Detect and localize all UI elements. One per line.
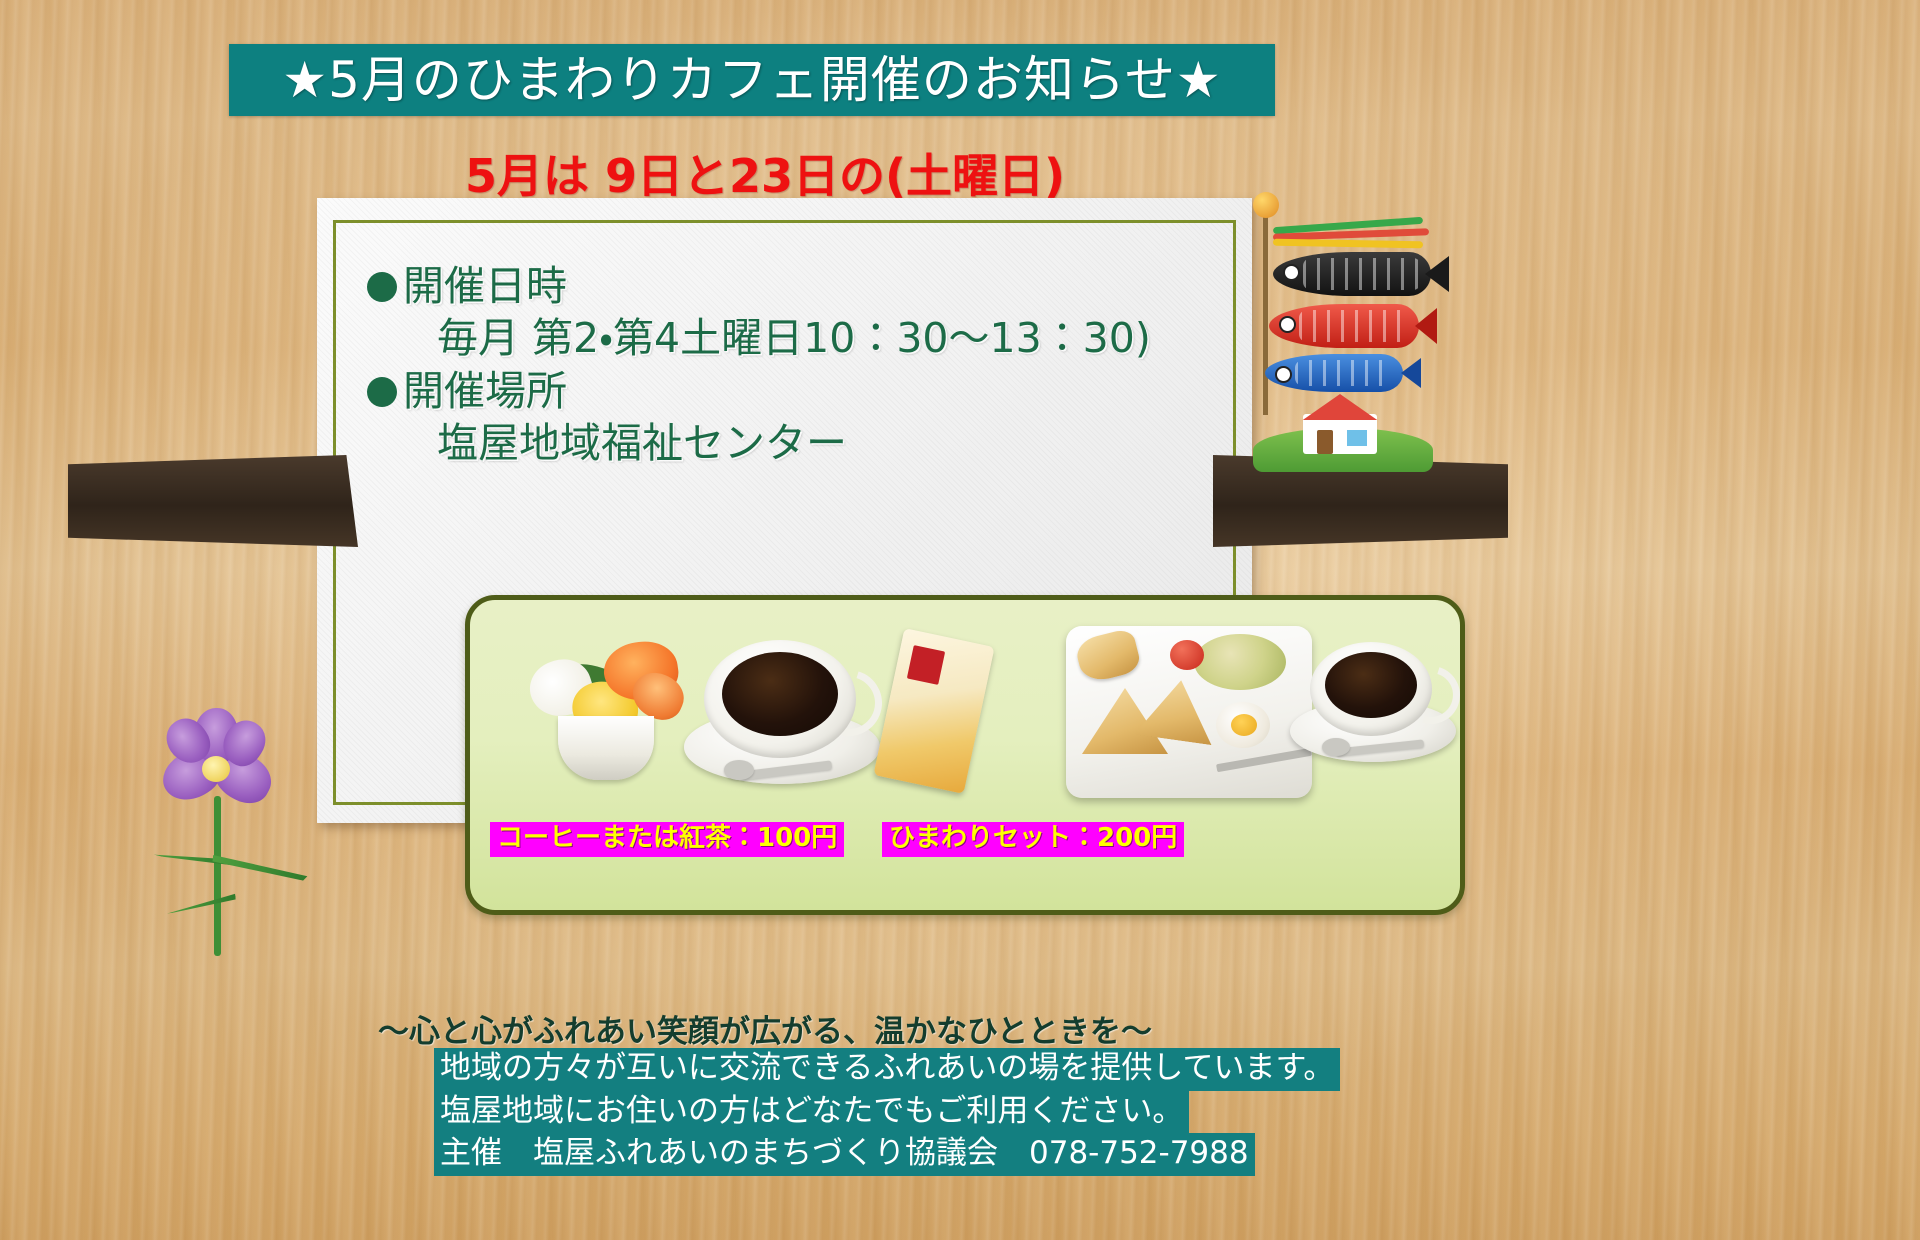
iris-center [202, 756, 230, 782]
carp-blue-icon [1265, 354, 1403, 392]
place-heading-line: 開催場所 [367, 365, 1151, 417]
vase-icon [558, 716, 654, 780]
carp-eye-icon [1283, 264, 1300, 281]
price-label-coffee: コーヒーまたは紅茶：100円 [490, 822, 844, 857]
coffee-cup-photo [678, 618, 888, 818]
snack-pouch-photo [870, 622, 1010, 802]
house-window [1345, 428, 1369, 448]
carp-tail-icon [1401, 358, 1421, 388]
house-door [1317, 430, 1333, 454]
dark-banner-bar-left [68, 455, 358, 547]
menu-photo-strip: コーヒーまたは紅茶：100円 ひまわりセット：200円 [465, 595, 1465, 915]
pole-icon [1263, 200, 1268, 415]
coffee-liquid [722, 652, 838, 736]
carp-scales [1295, 360, 1393, 386]
meal-tray-photo [1066, 606, 1316, 812]
carp-red-icon [1269, 304, 1419, 348]
contact-line-3: 主催 塩屋ふれあいのまちづくり協議会 078-752-7988 [434, 1133, 1255, 1176]
date-line-text: 5月は 9日と23日の(土曜日) [465, 149, 1065, 203]
iris-stem [214, 796, 221, 956]
spoon-bowl-icon [724, 760, 754, 780]
datetime-value: 毎月 第2・第4土曜日10：30〜13：30) [367, 312, 1151, 364]
carp-scales [1303, 258, 1421, 290]
title-text: ★5月のひまわりカフェ開催のお知らせ★ [282, 55, 1221, 105]
contact-block: 地域の方々が互いに交流できるふれあいの場を提供しています。 塩屋地域にお住いの方… [434, 1048, 1340, 1176]
datetime-heading-line: 開催日時 [367, 260, 1151, 312]
contact-line-1: 地域の方々が互いに交流できるふれあいの場を提供しています。 [434, 1048, 1340, 1091]
event-details: 開催日時 毎月 第2・第4土曜日10：30〜13：30) 開催場所 塩屋地域福祉… [367, 260, 1151, 470]
egg-yolk-icon [1231, 714, 1257, 736]
date-line: 5月は 9日と23日の(土曜日) [0, 140, 1530, 206]
salad-icon [1194, 634, 1286, 690]
tagline: 〜心と心がふれあい笑顔が広がる、温かなひとときを〜 [0, 1006, 1530, 1051]
spoon-bowl-icon [1322, 738, 1350, 756]
streamer-icon [1273, 239, 1423, 249]
carp-scales [1299, 310, 1409, 342]
tomato-icon [1170, 640, 1204, 670]
coffee-liquid [1325, 652, 1417, 718]
place-value: 塩屋地域福祉センター [367, 417, 1151, 469]
bullet-icon [367, 272, 397, 302]
koinobori-decoration [1245, 200, 1455, 465]
carp-tail-icon [1415, 308, 1437, 344]
price-label-set: ひまわりセット：200円 [882, 822, 1184, 857]
carp-eye-icon [1275, 366, 1292, 383]
bullet-icon [367, 377, 397, 407]
iris-leaf [211, 855, 308, 881]
carp-eye-icon [1279, 316, 1296, 333]
tagline-text: 〜心と心がふれあい笑顔が広がる、温かなひとときを〜 [378, 1014, 1152, 1050]
iris-leaf [165, 892, 236, 913]
contact-line-2: 塩屋地域にお住いの方はどなたでもご利用ください。 [434, 1091, 1189, 1134]
title-banner: ★5月のひまわりカフェ開催のお知らせ★ [229, 44, 1275, 116]
carp-tail-icon [1425, 256, 1449, 292]
house-icon [1287, 388, 1397, 460]
place-heading: 開催場所 [403, 367, 567, 415]
datetime-heading: 開催日時 [403, 262, 567, 310]
iris-flower-decoration [150, 700, 370, 970]
pole-ball-icon [1253, 192, 1279, 218]
coffee-cup-photo-2 [1290, 626, 1465, 796]
carp-black-icon [1273, 252, 1431, 296]
